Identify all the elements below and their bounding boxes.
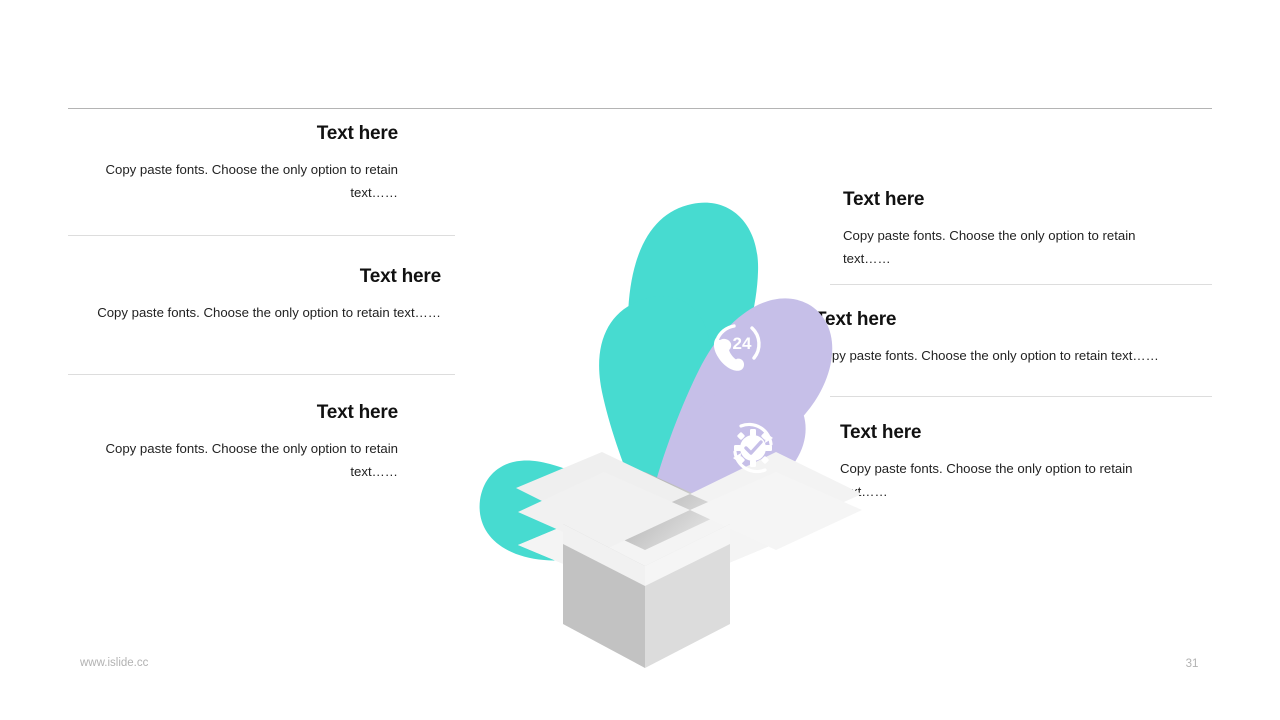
body-right-1: Copy paste fonts. Choose the only option… bbox=[843, 225, 1183, 270]
phone-badge-number: 24 bbox=[733, 334, 752, 353]
divider-left-1 bbox=[68, 235, 455, 236]
body-left-2: Copy paste fonts. Choose the only option… bbox=[68, 302, 441, 325]
divider-right-1 bbox=[830, 284, 1212, 285]
footer-url[interactable]: www.islide.cc bbox=[80, 657, 148, 669]
text-block-right-3: Text here Copy paste fonts. Choose the o… bbox=[840, 423, 1180, 503]
text-block-left-3: Text here Copy paste fonts. Choose the o… bbox=[68, 403, 398, 483]
slide-canvas: Text here Copy paste fonts. Choose the o… bbox=[0, 0, 1280, 720]
heading-right-3: Text here bbox=[840, 423, 1180, 444]
body-left-3: Copy paste fonts. Choose the only option… bbox=[68, 438, 398, 483]
chart-refresh-icon bbox=[450, 416, 494, 456]
heading-right-1: Text here bbox=[843, 190, 1183, 211]
body-left-1: Copy paste fonts. Choose the only option… bbox=[68, 159, 398, 204]
pound-coin-icon bbox=[492, 286, 530, 322]
text-block-right-1: Text here Copy paste fonts. Choose the o… bbox=[843, 190, 1183, 270]
page-number: 31 bbox=[1172, 658, 1212, 670]
open-box-with-petals-graphic: 24 bbox=[400, 100, 880, 680]
heading-left-2: Text here bbox=[68, 267, 441, 288]
heading-left-3: Text here bbox=[68, 403, 398, 424]
divider-right-2 bbox=[830, 396, 1212, 397]
divider-left-2 bbox=[68, 374, 455, 375]
network-shield-icon bbox=[661, 139, 719, 204]
heading-left-1: Text here bbox=[68, 124, 398, 145]
body-right-3: Copy paste fonts. Choose the only option… bbox=[840, 458, 1180, 503]
text-block-left-2: Text here Copy paste fonts. Choose the o… bbox=[68, 267, 441, 325]
dollar-target-icon bbox=[762, 212, 814, 264]
text-block-left-1: Text here Copy paste fonts. Choose the o… bbox=[68, 124, 398, 204]
